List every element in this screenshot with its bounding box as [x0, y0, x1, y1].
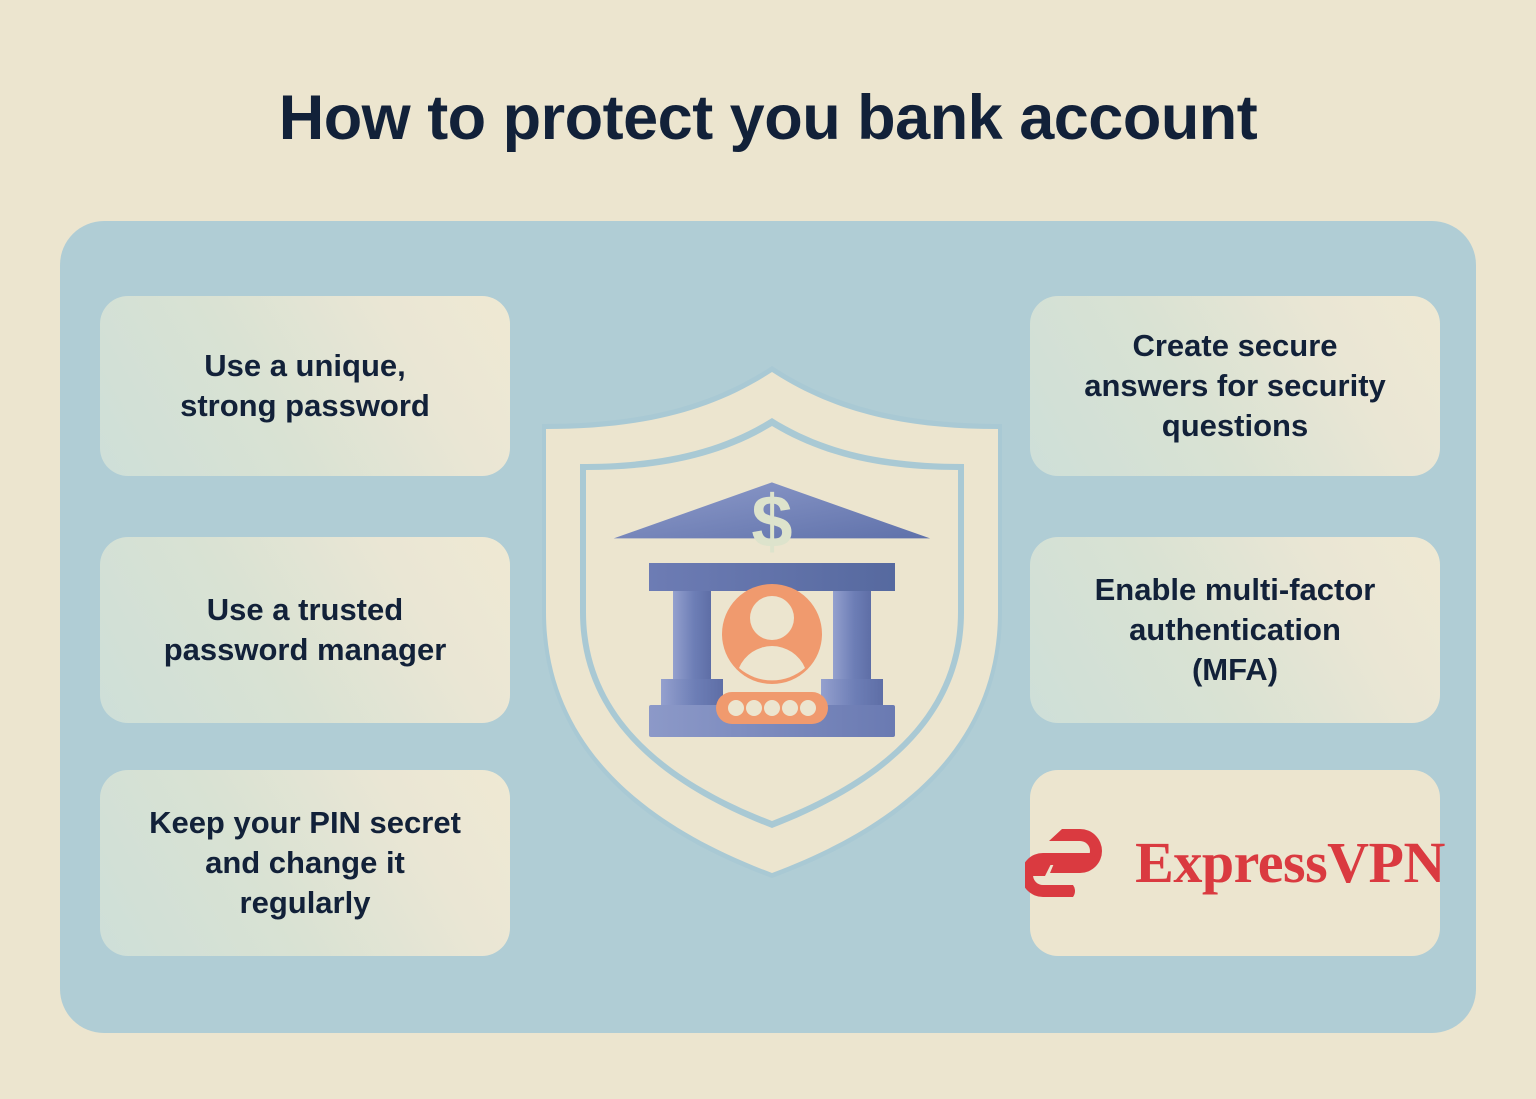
page-title: How to protect you bank account — [0, 84, 1536, 153]
tip-card-label: Create secure answers for security quest… — [1084, 326, 1386, 445]
tip-card-left-2[interactable]: Use a trusted password manager — [100, 537, 510, 723]
tip-card-left-1[interactable]: Use a unique, strong password — [100, 296, 510, 476]
dollar-sign-label: $ — [751, 480, 792, 563]
tip-card-left-3[interactable]: Keep your PIN secret and change it regul… — [100, 770, 510, 956]
bank-column-right — [833, 591, 871, 679]
tip-card-label: Keep your PIN secret and change it regul… — [149, 803, 461, 922]
expressvpn-mark-icon — [1025, 826, 1109, 900]
expressvpn-wordmark: ExpressVPN — [1135, 834, 1445, 892]
tip-card-label: Enable multi-factor authentication (MFA) — [1095, 570, 1376, 689]
user-avatar-icon — [722, 584, 822, 684]
expressvpn-logo: ExpressVPN — [1025, 826, 1445, 900]
password-field-icon — [716, 692, 828, 724]
tip-card-right-2[interactable]: Enable multi-factor authentication (MFA) — [1030, 537, 1440, 723]
infographic-poster: How to protect you bank account Use a un… — [0, 0, 1536, 1099]
bank-column-left — [673, 591, 711, 679]
tip-card-label: Use a trusted password manager — [164, 590, 447, 669]
brand-logo-card[interactable]: ExpressVPN — [1030, 770, 1440, 956]
tip-card-right-1[interactable]: Create secure answers for security quest… — [1030, 296, 1440, 476]
tip-card-label: Use a unique, strong password — [180, 346, 430, 425]
shield-bank-illustration: $ — [536, 362, 1008, 882]
